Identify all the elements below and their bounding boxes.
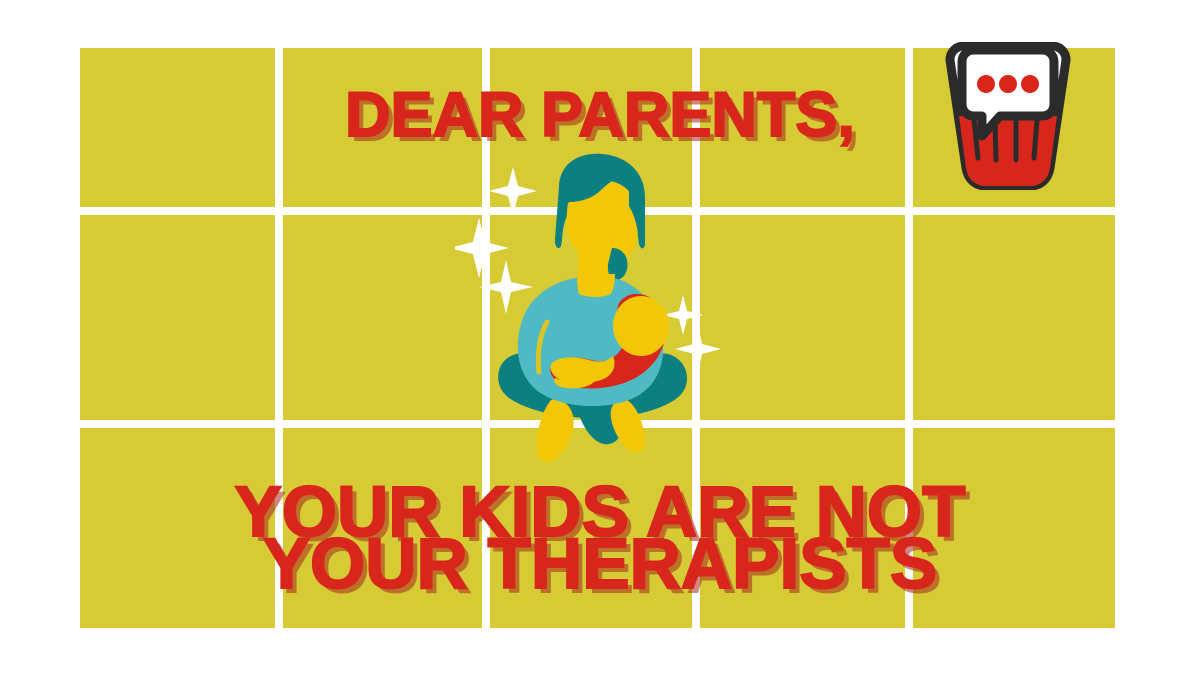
- headline-bottom-line2: YOUR THERAPISTS: [0, 529, 1200, 600]
- poster-canvas: DEAR PARENTS,: [0, 0, 1200, 675]
- parent-holding-baby-illustration: [455, 150, 720, 470]
- sparkle-icon-right-1: [663, 295, 703, 335]
- speech-bubble-dots: [977, 75, 1039, 93]
- cup-speech-bubble-logo[interactable]: [938, 42, 1078, 190]
- sparkle-icon-left-3: [479, 260, 533, 314]
- baby-head: [613, 296, 669, 356]
- sparkle-icon-left-2: [455, 218, 509, 278]
- neck: [577, 274, 615, 297]
- sparkle-icon-left-1: [489, 167, 537, 215]
